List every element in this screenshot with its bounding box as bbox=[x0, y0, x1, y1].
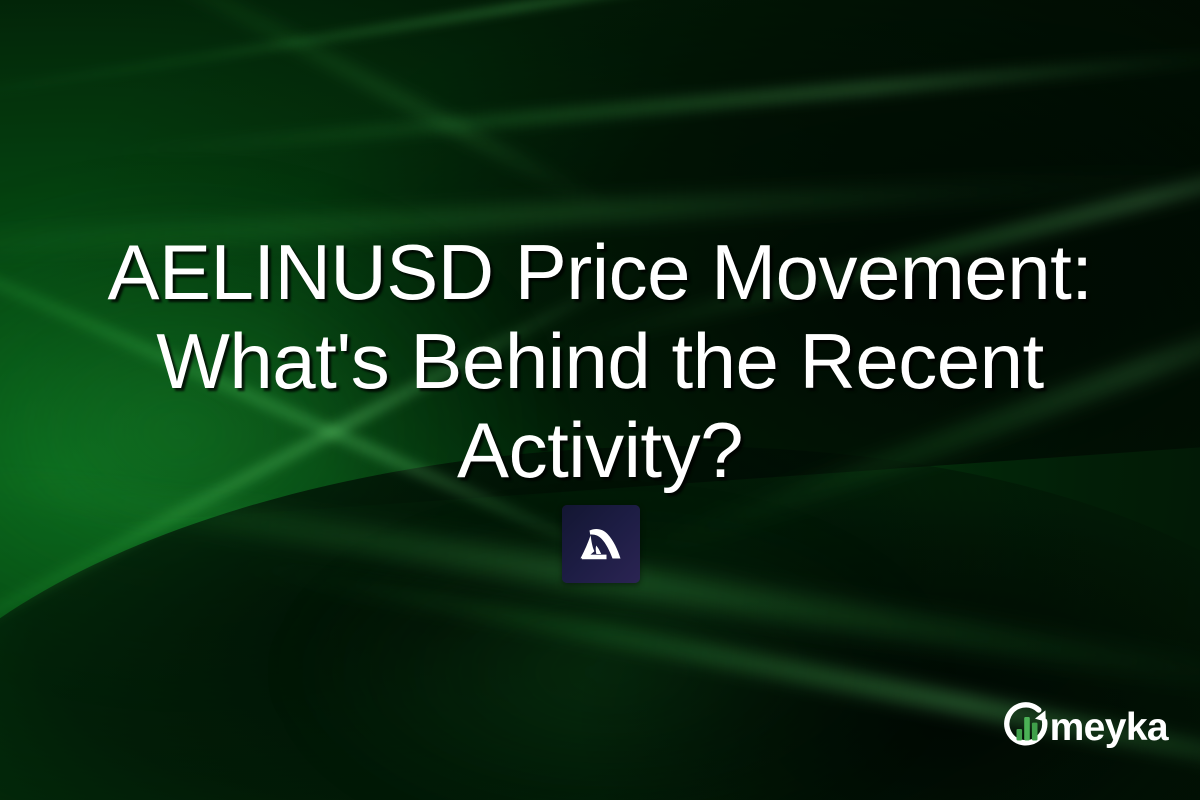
aelin-token-logo bbox=[562, 505, 640, 583]
banner-title: AELINUSD Price Movement: What's Behind t… bbox=[60, 228, 1140, 495]
meyka-brand-logo[interactable]: meyka bbox=[1000, 699, 1168, 756]
meyka-chart-ring-icon bbox=[1000, 699, 1052, 756]
social-share-banner: AELINUSD Price Movement: What's Behind t… bbox=[0, 0, 1200, 800]
meyka-wordmark: meyka bbox=[1050, 708, 1168, 747]
